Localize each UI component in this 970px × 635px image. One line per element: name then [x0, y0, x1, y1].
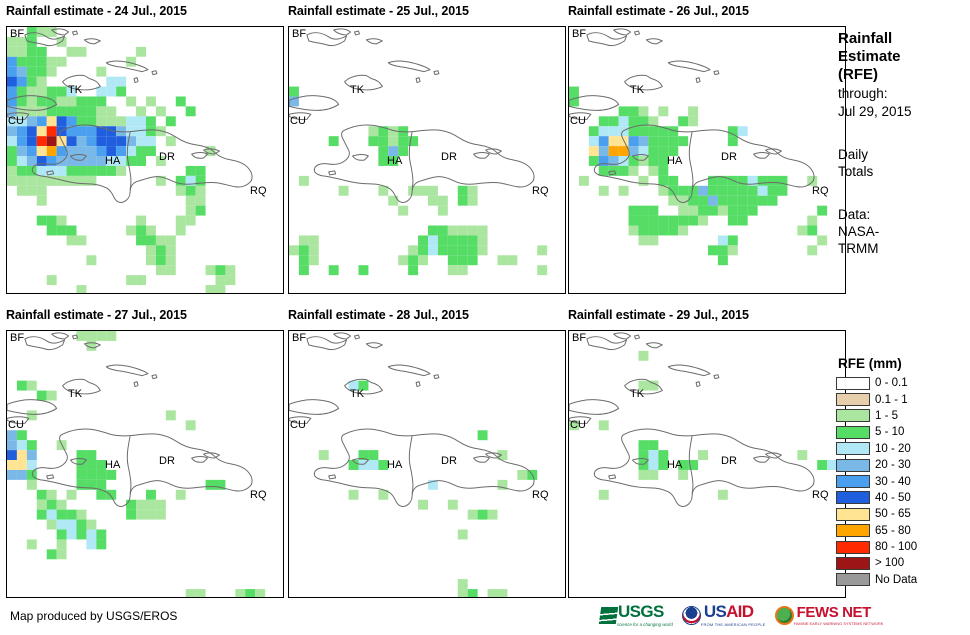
usgs-logo-tagline: science for a changing world — [617, 622, 673, 627]
legend-item-8: 50 - 65 — [836, 506, 970, 522]
legend-title: RFE (mm) — [838, 356, 970, 371]
legend-swatch-2 — [836, 409, 870, 422]
legend-item-3: 5 - 10 — [836, 424, 970, 440]
map-canvas-3 — [7, 331, 283, 597]
legend-swatch-0 — [836, 377, 870, 390]
legend-swatch-9 — [836, 524, 870, 537]
legend-label-2: 1 - 5 — [875, 410, 898, 422]
coastline-1 — [289, 29, 534, 203]
info-totals-line2: Totals — [838, 163, 970, 180]
info-through-date: Jul 29, 2015 — [838, 103, 970, 120]
legend-swatch-7 — [836, 491, 870, 504]
panel-title-1: Rainfall estimate - 25 Jul., 2015 — [288, 4, 469, 18]
legend-label-8: 50 - 65 — [875, 508, 911, 520]
rfe-legend: RFE (mm) 0 - 0.10.1 - 11 - 55 - 1010 - 2… — [836, 356, 970, 588]
legend-label-11: > 100 — [875, 557, 904, 569]
legend-swatch-11 — [836, 557, 870, 570]
legend-label-10: 80 - 100 — [875, 541, 917, 553]
legend-label-6: 30 - 40 — [875, 476, 911, 488]
panel-title-0: Rainfall estimate - 24 Jul., 2015 — [6, 4, 187, 18]
legend-item-1: 0.1 - 1 — [836, 391, 970, 407]
map-panel-0[interactable]: BFCUTKHADRRQ — [6, 26, 284, 294]
legend-swatch-8 — [836, 508, 870, 521]
legend-item-2: 1 - 5 — [836, 408, 970, 424]
legend-label-12: No Data — [875, 574, 917, 586]
legend-swatch-6 — [836, 475, 870, 488]
panel-title-4: Rainfall estimate - 28 Jul., 2015 — [288, 308, 469, 322]
footer-credit: Map produced by USGS/EROS — [10, 609, 177, 623]
map-panel-2[interactable]: BFCUTKHADRRQ — [568, 26, 846, 294]
logo-bar: USGS science for a changing world USAID … — [600, 600, 883, 630]
legend-item-4: 10 - 20 — [836, 441, 970, 457]
panel-title-3: Rainfall estimate - 27 Jul., 2015 — [6, 308, 187, 322]
legend-swatch-10 — [836, 541, 870, 554]
info-title-line1: Rainfall — [838, 30, 970, 48]
rfe-raster-1 — [289, 87, 547, 276]
coastline-5 — [569, 333, 814, 507]
usaid-seal-icon — [682, 606, 701, 625]
rfe-raster-2 — [569, 87, 827, 266]
legend-swatch-5 — [836, 459, 870, 472]
info-title-line3: (RFE) — [838, 66, 970, 84]
panel-title-5: Rainfall estimate - 29 Jul., 2015 — [568, 308, 749, 322]
haiti-dr-border-4 — [409, 436, 413, 494]
legend-item-7: 40 - 50 — [836, 490, 970, 506]
map-canvas-2 — [569, 27, 845, 293]
info-through-label: through: — [838, 85, 970, 102]
legend-label-0: 0 - 0.1 — [875, 377, 908, 389]
rfe-raster-3 — [7, 331, 265, 597]
legend-swatch-1 — [836, 393, 870, 406]
info-totals-line1: Daily — [838, 146, 970, 163]
map-panel-4[interactable]: BFCUTKHADRRQ — [288, 330, 566, 598]
legend-label-3: 5 - 10 — [875, 426, 904, 438]
legend-swatch-12 — [836, 573, 870, 586]
legend-swatch-3 — [836, 426, 870, 439]
info-data-line2: NASA- — [838, 223, 970, 240]
rfe-raster-4 — [319, 381, 537, 597]
map-canvas-5 — [569, 331, 845, 597]
info-data-line3: TRMM — [838, 240, 970, 257]
usaid-logo-text: USAID — [704, 602, 753, 621]
fewsnet-logo-tagline: FAMINE EARLY WARNING SYSTEMS NETWORK — [794, 622, 884, 626]
coastline-4 — [289, 333, 534, 507]
map-panel-5[interactable]: BFCUTKHADRRQ — [568, 330, 846, 598]
legend-label-9: 65 - 80 — [875, 525, 911, 537]
map-panel-3[interactable]: BFCUTKHADRRQ — [6, 330, 284, 598]
legend-label-1: 0.1 - 1 — [875, 394, 908, 406]
legend-label-4: 10 - 20 — [875, 443, 911, 455]
info-column: Rainfall Estimate (RFE) through: Jul 29,… — [838, 30, 970, 257]
info-data-line1: Data: — [838, 206, 970, 223]
usgs-logo: USGS science for a changing world — [600, 602, 673, 628]
usaid-logo-tagline: FROM THE AMERICAN PEOPLE — [701, 622, 766, 627]
legend-swatch-4 — [836, 442, 870, 455]
map-panel-1[interactable]: BFCUTKHADRRQ — [288, 26, 566, 294]
fewsnet-globe-icon — [775, 606, 794, 625]
legend-item-11: > 100 — [836, 555, 970, 571]
haiti-dr-border-2 — [689, 132, 693, 190]
legend-item-6: 30 - 40 — [836, 473, 970, 489]
panel-title-2: Rainfall estimate - 26 Jul., 2015 — [568, 4, 749, 18]
map-canvas-0 — [7, 27, 283, 293]
info-title-line2: Estimate — [838, 48, 970, 66]
legend-item-9: 65 - 80 — [836, 523, 970, 539]
usgs-logo-text: USGS — [618, 602, 664, 621]
map-canvas-4 — [289, 331, 565, 597]
legend-rows: 0 - 0.10.1 - 11 - 55 - 1010 - 2020 - 303… — [836, 375, 970, 588]
usgs-mark-icon — [599, 607, 618, 624]
legend-label-7: 40 - 50 — [875, 492, 911, 504]
legend-item-10: 80 - 100 — [836, 539, 970, 555]
fewsnet-logo: FEWS NET FAMINE EARLY WARNING SYSTEMS NE… — [775, 602, 884, 628]
legend-item-12: No Data — [836, 572, 970, 588]
legend-label-5: 20 - 30 — [875, 459, 911, 471]
fewsnet-logo-text: FEWS NET — [797, 604, 871, 621]
legend-item-0: 0 - 0.1 — [836, 375, 970, 391]
map-canvas-1 — [289, 27, 565, 293]
haiti-dr-border-3 — [127, 436, 131, 494]
usaid-logo: USAID FROM THE AMERICAN PEOPLE — [682, 602, 766, 628]
legend-item-5: 20 - 30 — [836, 457, 970, 473]
